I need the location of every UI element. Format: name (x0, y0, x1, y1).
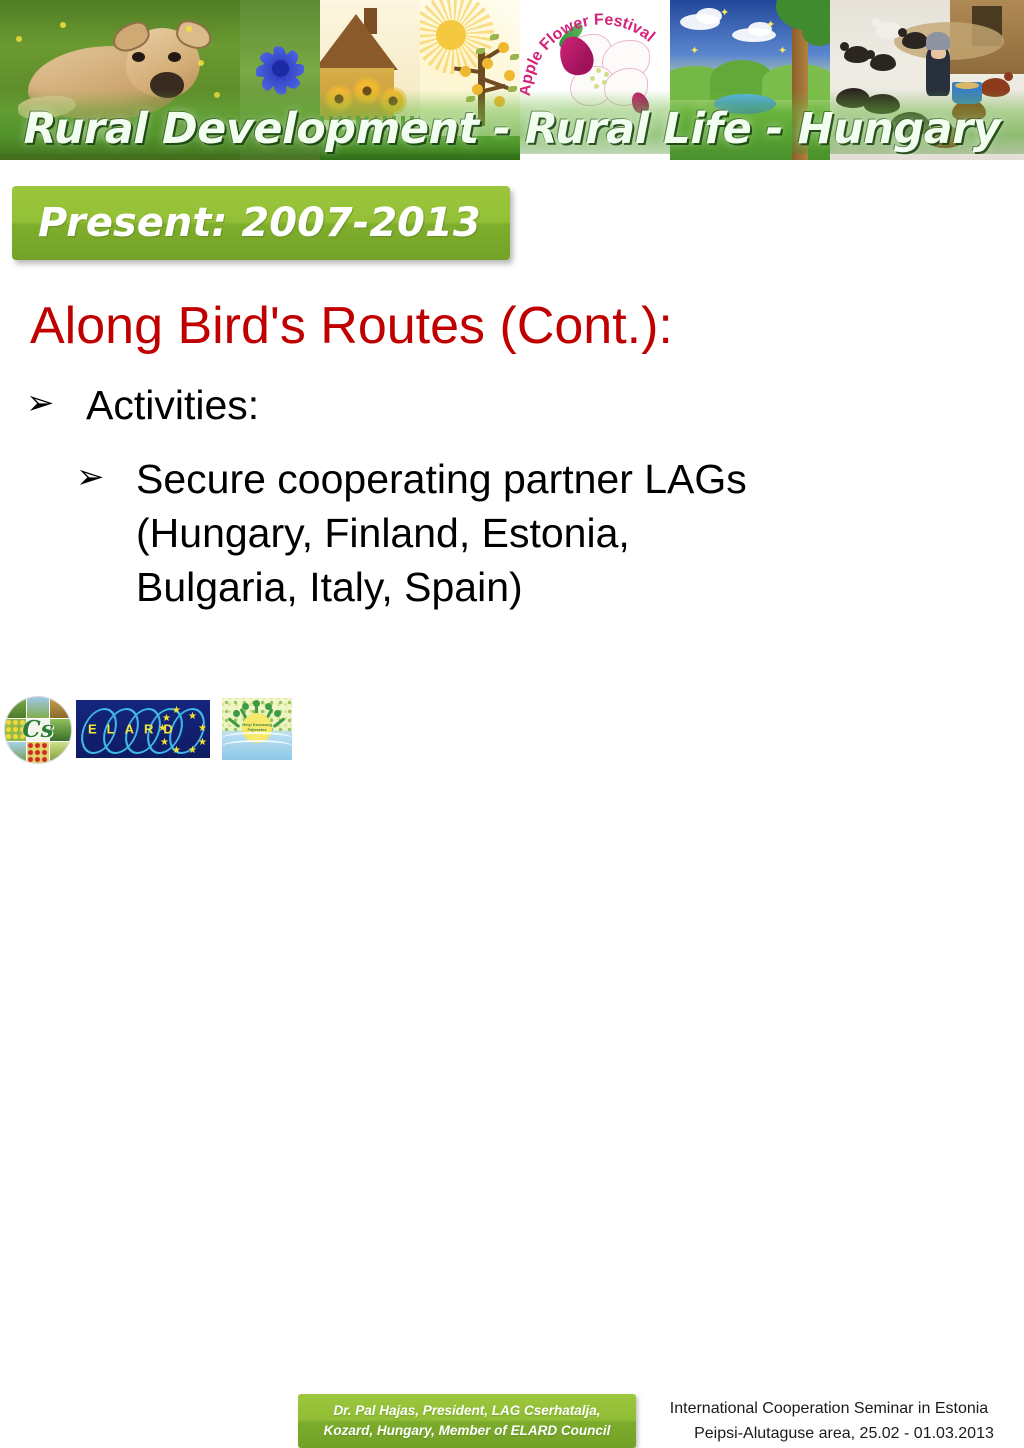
eu-star-icon: ★ (160, 738, 169, 748)
presenter-credit-box: Dr. Pal Hajas, President, LAG Cserhatalj… (298, 1394, 636, 1448)
water-wave-shape (222, 740, 292, 752)
bullet-level1-activities: ➢ Activities: (26, 378, 259, 432)
apple-fruit-shape (472, 84, 483, 95)
elard-letter: L (107, 722, 116, 737)
event-info: International Cooperation Seminar in Est… (640, 1396, 1018, 1446)
banner-title: Rural Development - Rural Life - Hungary (0, 104, 1024, 154)
dandelion-dot (214, 92, 220, 98)
cserhatalja-monogram: Cs (22, 716, 53, 743)
eu-star-icon: ★ (188, 712, 197, 722)
cserhatalja-lag-logo: Cs (4, 696, 72, 764)
bullet-level1-text: Activities: (86, 378, 259, 432)
event-line-1: International Cooperation Seminar in Est… (640, 1396, 1018, 1421)
header-banner: Apple Flower Festival ✦ ✦ ✦ ✦ Agr (0, 0, 1024, 160)
dandelion-dot (186, 26, 192, 32)
apple-fruit-shape (498, 42, 509, 53)
calf-eye-right-shape (168, 52, 181, 62)
svg-text:Apple Flower Festival: Apple Flower Festival (520, 11, 658, 96)
feed-shape (955, 82, 979, 89)
bullet-line: Bulgaria, Italy, Spain) (136, 560, 747, 614)
apple-fruit-shape (482, 58, 493, 69)
bullet-line: Activities: (86, 378, 259, 432)
festival-logo-text: Apple Flower Festival (520, 11, 658, 96)
arrow-bullet-icon: ➢ (76, 452, 110, 502)
arrow-bullet-icon: ➢ (26, 378, 60, 428)
bullet-line: (Hungary, Finland, Estonia, (136, 506, 747, 560)
elard-letter: E (88, 722, 98, 737)
eu-star-icon: ★ (172, 746, 181, 756)
dandelion-dot (60, 22, 66, 28)
chicken-shape (980, 78, 1010, 97)
dandelion-dot (198, 60, 204, 66)
credit-line-2: Kozard, Hungary, Member of ELARD Council (324, 1421, 611, 1441)
elard-letter: R (144, 722, 154, 737)
eu-star-icon: ★ (188, 746, 197, 756)
eu-star-icon: ★ (172, 706, 181, 716)
eu-star-icon: ★ (198, 724, 207, 734)
bullet-line: Secure cooperating partner LAGs (136, 452, 747, 506)
logo-caption: Helyi Kozosseg Fejlesztes (237, 722, 277, 732)
elard-letter: A (125, 722, 135, 737)
bullet-level2-partners: ➢ Secure cooperating partner LAGs (Hunga… (76, 452, 747, 614)
slide-title: Along Bird's Routes (Cont.): (30, 296, 673, 356)
credit-line-1: Dr. Pal Hajas, President, LAG Cserhatalj… (333, 1401, 600, 1421)
house-roof-shape (320, 14, 398, 70)
event-line-2: Peipsi-Alutaguse area, 25.02 - 01.03.201… (640, 1421, 1018, 1446)
sunflower-shape (356, 80, 378, 102)
eu-star-icon: ★ (162, 714, 171, 724)
eu-star-icon: ★ (158, 724, 167, 734)
sun-disc-shape (436, 20, 466, 50)
present-period-label: Present: 2007-2013 (12, 200, 481, 246)
dandelion-dot (16, 36, 22, 42)
elard-logo: E L A R D ★ ★ ★ ★ ★ ★ ★ ★ ★ (76, 700, 210, 758)
present-period-badge: Present: 2007-2013 (12, 186, 510, 260)
apple-fruit-shape (504, 70, 515, 81)
calf-muzzle-shape (150, 72, 184, 98)
calf-eye-left-shape (132, 52, 145, 62)
slide-footer: Cs E L A R D ★ ★ ★ ★ ★ ★ ★ ★ ★ (0, 692, 1024, 768)
eu-star-icon: ★ (198, 738, 207, 748)
cornflower-shape (252, 40, 310, 96)
apple-fruit-shape (460, 66, 471, 77)
bullet-level2-text: Secure cooperating partner LAGs (Hungary… (136, 452, 747, 614)
local-action-group-logo: Helyi Kozosseg Fejlesztes (222, 698, 292, 760)
child-hat-shape (926, 32, 950, 50)
